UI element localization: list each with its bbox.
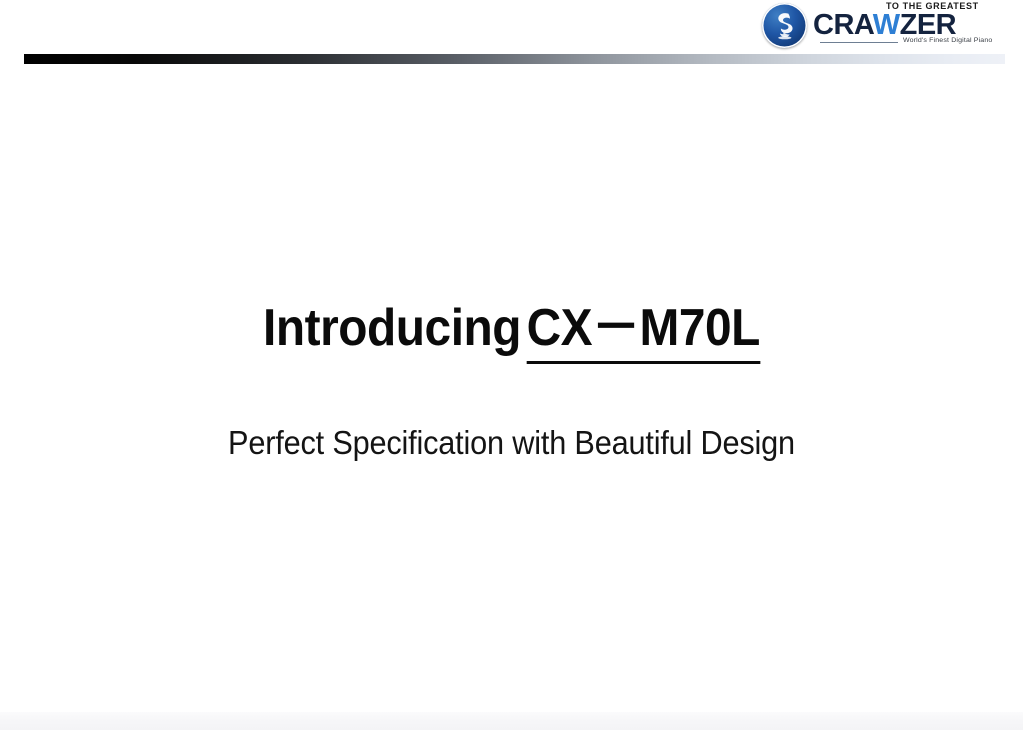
title-model-text: CX－M70L [527, 299, 760, 364]
wordmark-part-2: A [854, 9, 873, 41]
footer-band [0, 712, 1023, 730]
wordmark-part-1: CR [813, 9, 854, 41]
brand-divider-rule [820, 42, 898, 43]
page-subtitle: Perfect Specification with Beautiful Des… [36, 422, 987, 464]
brand-logo: TO THE GREATEST CRAWZER World's Finest D… [760, 0, 1015, 52]
title-lead-text: Introducing [263, 299, 527, 357]
crawzer-swan-emblem-icon [762, 3, 807, 48]
slide-canvas: TO THE GREATEST CRAWZER World's Finest D… [0, 0, 1023, 730]
page-title: IntroducingCX－M70L [41, 298, 982, 358]
header-gradient-bar [24, 54, 1005, 64]
brand-wordmark: CRAWZER [813, 11, 956, 40]
wordmark-part-3: W [873, 9, 900, 41]
brand-tagline-bottom: World's Finest Digital Piano [903, 37, 992, 44]
